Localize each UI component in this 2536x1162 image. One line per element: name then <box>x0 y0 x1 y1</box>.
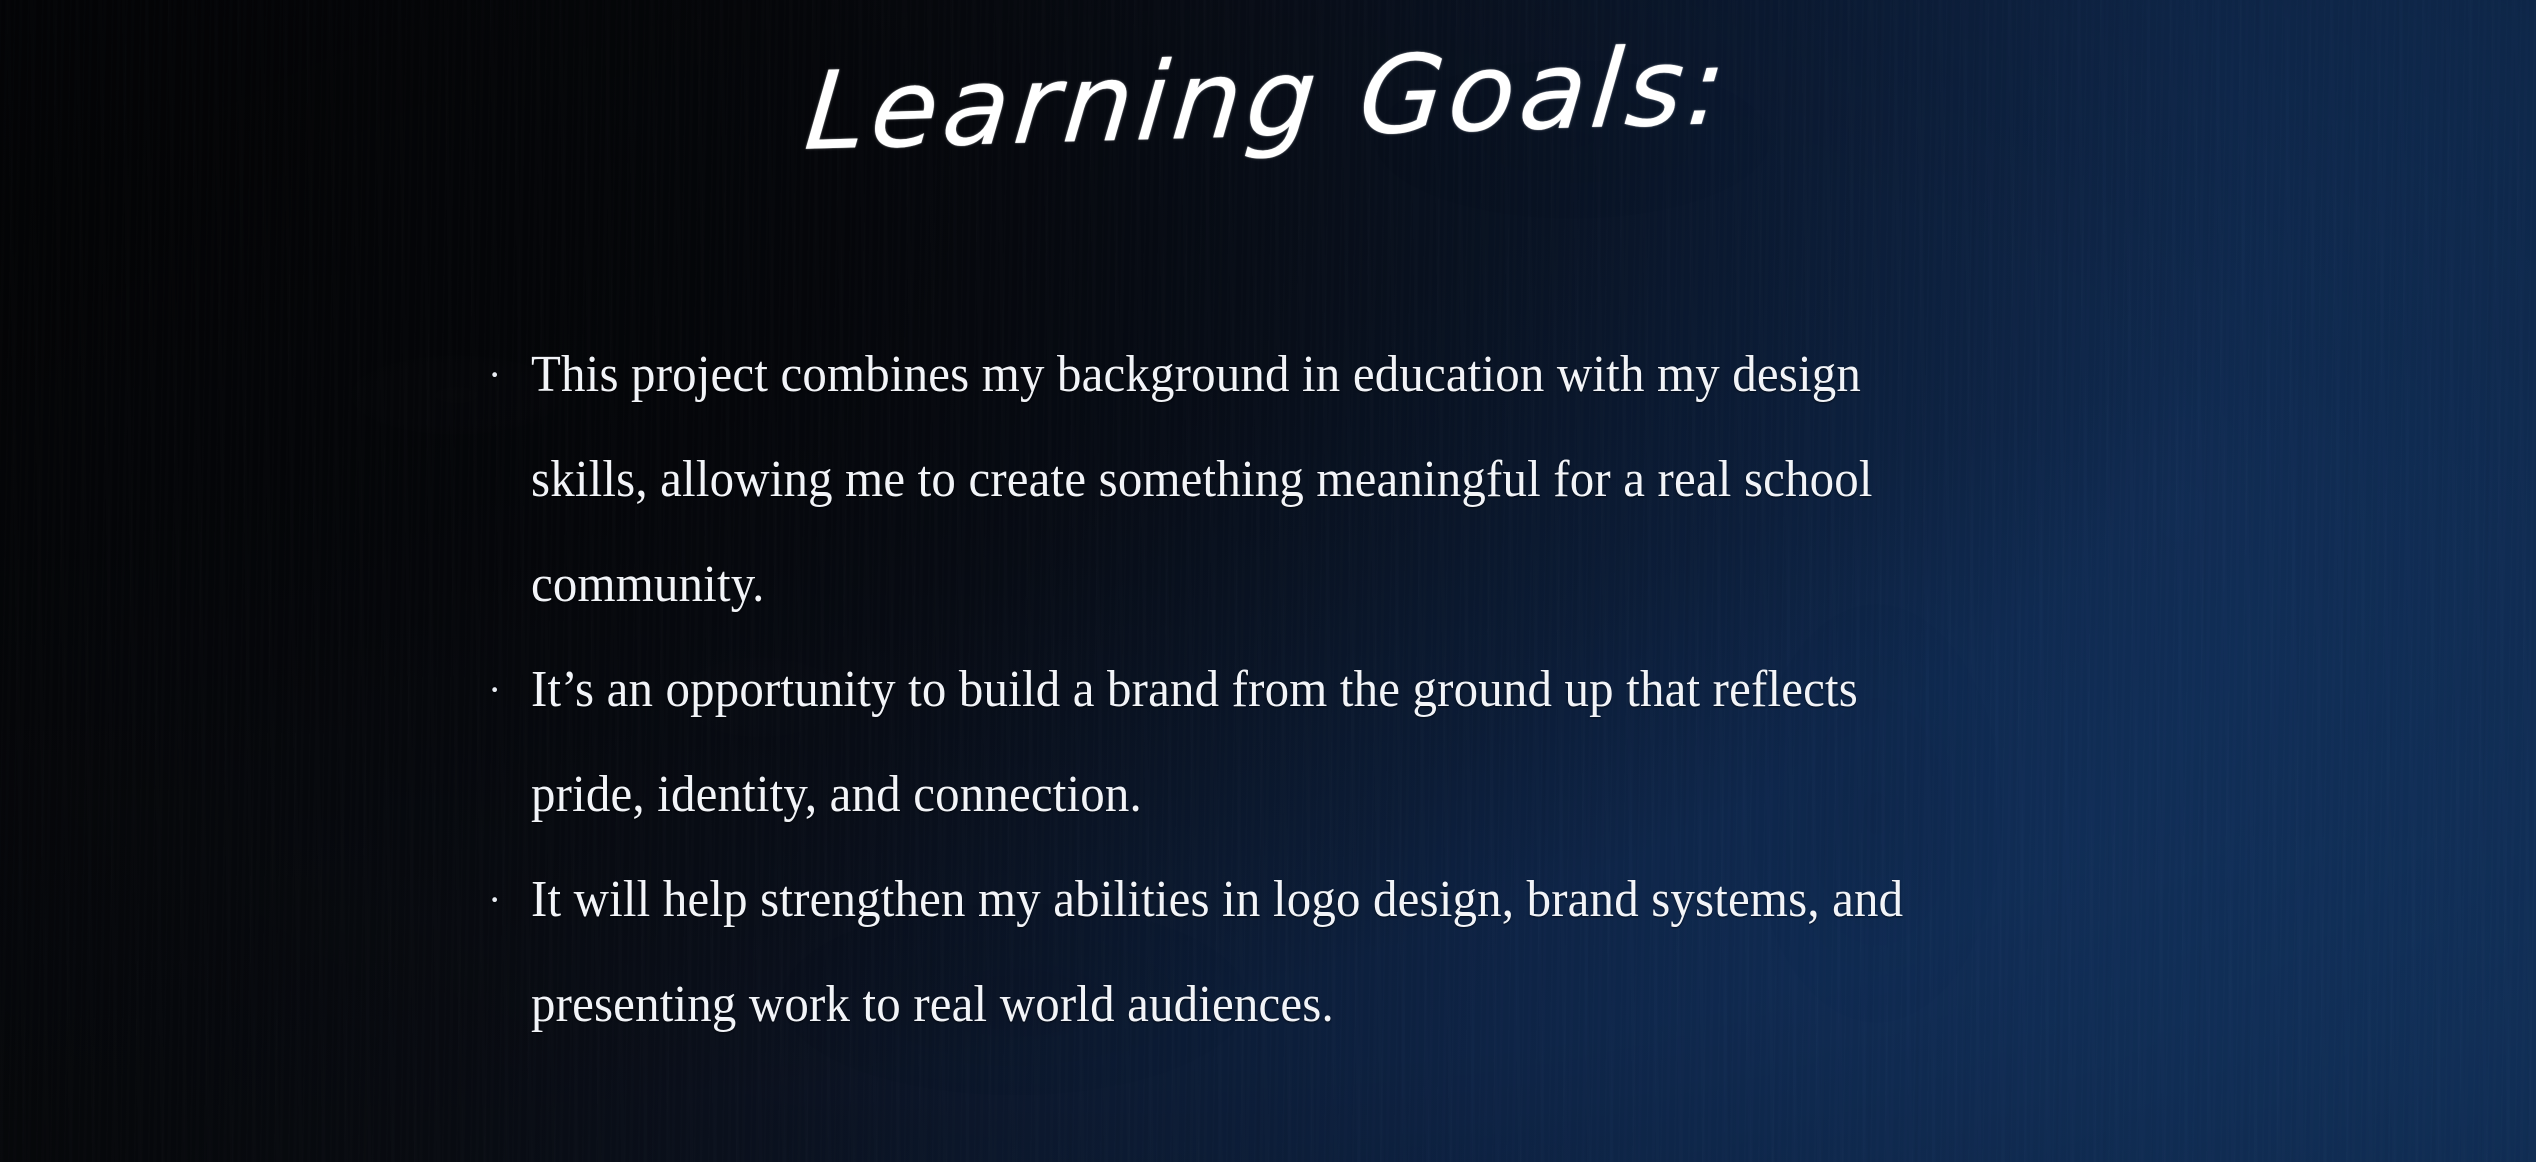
bullet-point-icon: · <box>478 637 531 742</box>
list-item: · It will help strengthen my abilities i… <box>478 847 1998 1057</box>
bullet-point-icon: · <box>478 847 531 952</box>
learning-goals-list: · This project combines my background in… <box>478 322 1998 1057</box>
slide-title: Learning Goals: <box>0 3 2536 198</box>
bullet-point-icon: · <box>478 322 531 427</box>
list-item-text: This project combines my background in e… <box>531 322 1910 637</box>
list-item: · This project combines my background in… <box>478 322 1998 637</box>
slide-content: Learning Goals: · This project combines … <box>0 0 2536 1162</box>
list-item-text: It’s an opportunity to build a brand fro… <box>531 637 1910 847</box>
list-item: · It’s an opportunity to build a brand f… <box>478 637 1998 847</box>
presentation-slide: Learning Goals: · This project combines … <box>0 0 2536 1162</box>
list-item-text: It will help strengthen my abilities in … <box>531 847 1910 1057</box>
